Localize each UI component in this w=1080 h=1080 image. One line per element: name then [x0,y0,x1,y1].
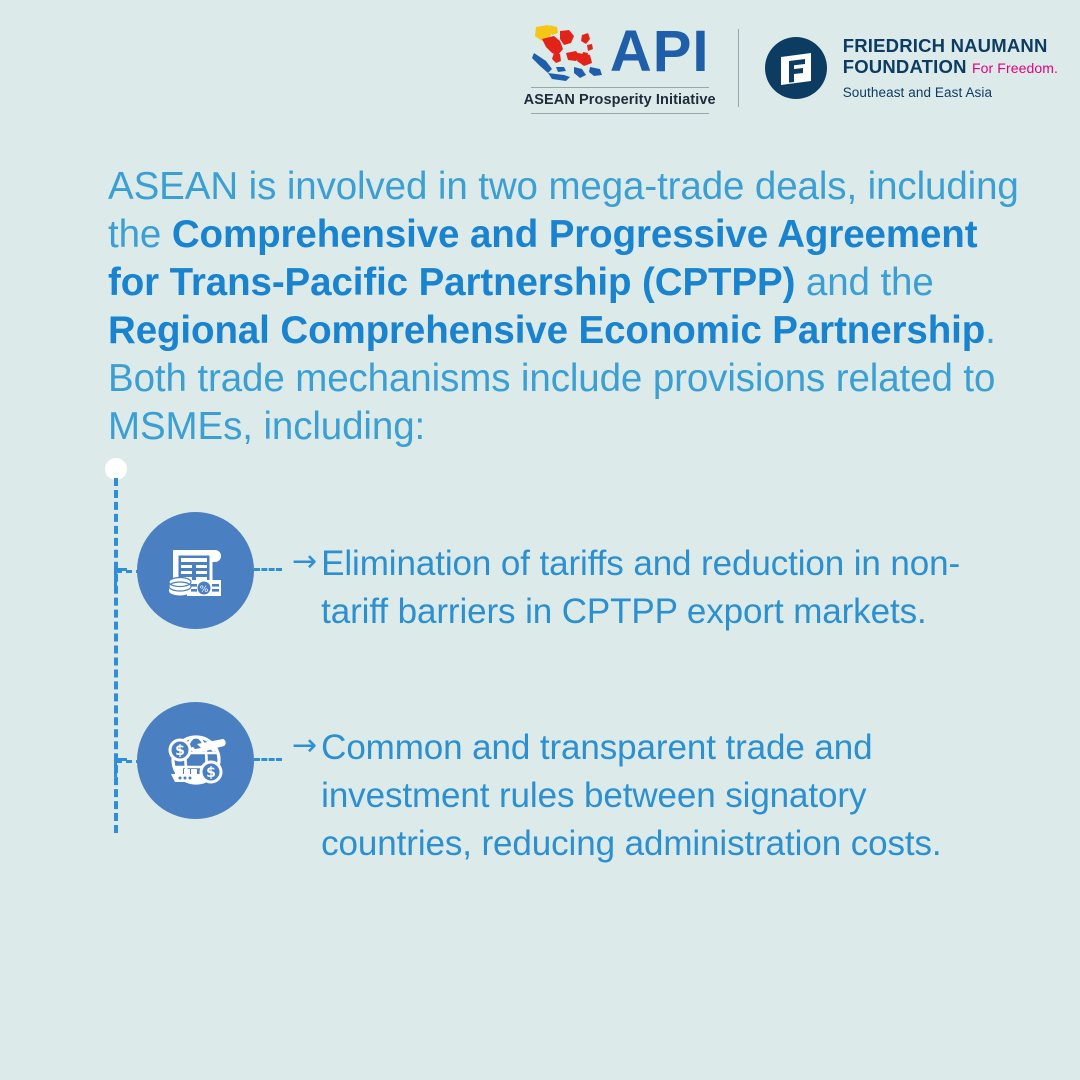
item-body: → Elimination of tariffs and reduction i… [292,512,961,636]
item-connector-1 [254,568,282,571]
list-item: $ $ → Common and transparent trade and i… [137,702,1011,868]
logo-divider [738,29,739,107]
item-body: → Common and transparent trade and inves… [292,702,1011,868]
api-wordmark: API [610,23,710,81]
headline-segment-2: and the [795,261,933,304]
fnf-freedom-slogan: For Freedom. [972,60,1058,76]
api-tagline: ASEAN Prosperity Initiative [524,92,716,108]
timeline-start-dot [105,458,127,480]
svg-text:%: % [199,585,208,595]
api-rule-bottom [531,113,709,114]
headline-segment-3: Regional Comprehensive Economic Partners… [108,309,985,352]
fnf-name-line1: FRIEDRICH NAUMANN [843,36,1058,57]
logo-bar: API ASEAN Prosperity Initiative FRIEDRIC… [524,22,1058,114]
headline: ASEAN is involved in two mega-trade deal… [108,163,1038,451]
api-rule-top [531,87,709,88]
tariff-document-money-icon: % [137,512,254,629]
list-item-text: Common and transparent trade and investm… [321,724,1011,868]
fnf-f-mark-icon [765,37,827,99]
svg-text:$: $ [206,765,216,781]
fnf-name-line2: FOUNDATION For Freedom. [843,57,1058,78]
fnf-logo: FRIEDRICH NAUMANN FOUNDATION For Freedom… [765,36,1058,100]
svg-text:$: $ [175,743,185,759]
arrow-right-icon: → [292,724,317,768]
item-connector-2 [254,758,282,761]
fnf-text-block: FRIEDRICH NAUMANN FOUNDATION For Freedom… [843,36,1058,100]
api-logo-top: API [530,22,710,84]
timeline-dashed-line [114,478,118,833]
global-trade-shipping-icon: $ $ [137,702,254,819]
arrow-right-icon: → [292,540,317,584]
list-item: % → Elimination of tariffs and reduction… [137,512,961,636]
timeline [105,458,129,833]
asean-map-icon [530,23,606,83]
fnf-foundation-word: FOUNDATION [843,56,967,77]
list-item-text: Elimination of tariffs and reduction in … [321,540,961,636]
fnf-region-label: Southeast and East Asia [843,85,1058,100]
api-logo: API ASEAN Prosperity Initiative [524,22,738,114]
